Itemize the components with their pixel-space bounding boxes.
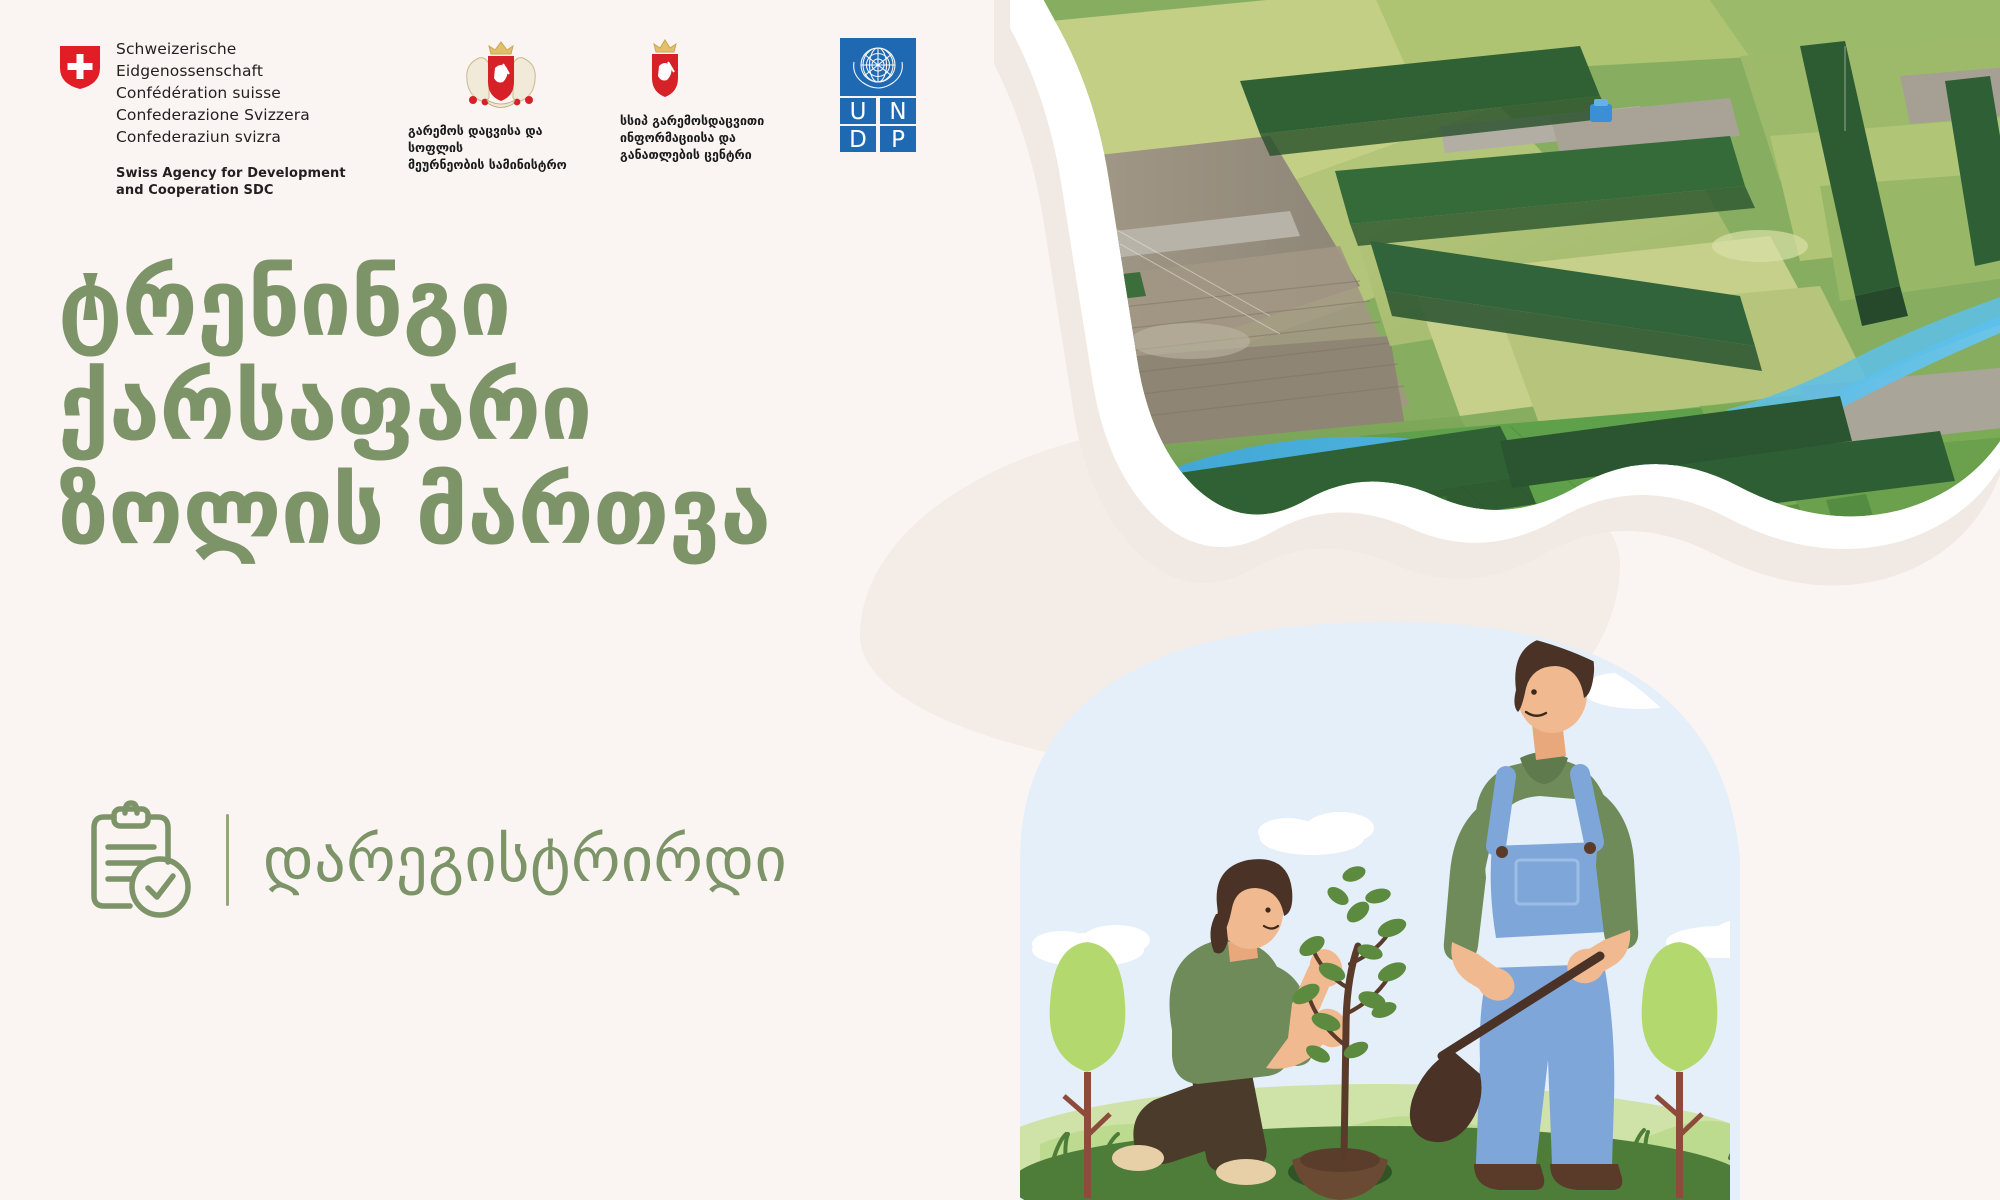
register-divider <box>226 814 229 906</box>
environmental-information-centre-label: სსიპ გარემოსდაცვითი ინფორმაციისა და განა… <box>620 112 764 163</box>
undp-letter-p: P <box>891 127 905 153</box>
ministry-of-environment-label: გარემოს დაცვისა და სოფლის მეურნეობის სამ… <box>408 122 594 173</box>
swiss-shield-icon <box>58 44 102 90</box>
clipboard-check-icon <box>70 800 200 920</box>
undp-logo-mark: U N D P <box>840 38 916 154</box>
environmental-information-centre-logo: სსიპ გარემოსდაცვითი ინფორმაციისა და განა… <box>620 38 800 163</box>
page-title: ტრენინგი ქარსაფარი ზოლის მართვა <box>58 252 771 564</box>
register-cta[interactable]: დარეგისტრირდი <box>70 800 787 920</box>
undp-letter-n: N <box>889 99 906 125</box>
aerial-farmland-photo <box>940 0 2000 626</box>
ministry-of-environment-logo: გარემოს დაცვისა და სოფლის მეურნეობის სამ… <box>408 38 594 173</box>
tree-planting-illustration <box>940 560 2000 1200</box>
swiss-confederation-names: Schweizerische Eidgenossenschaft Confédé… <box>116 38 378 148</box>
tree-planting-illustration-svg <box>940 560 2000 1200</box>
register-label[interactable]: დარეგისტრირდი <box>263 829 787 891</box>
undp-letter-u: U <box>850 99 867 125</box>
partner-logos-row: Schweizerische Eidgenossenschaft Confédé… <box>58 38 916 200</box>
training-announcement-banner: Schweizerische Eidgenossenschaft Confédé… <box>0 0 2000 1200</box>
swiss-confederation-logo: Schweizerische Eidgenossenschaft Confédé… <box>58 38 378 200</box>
aerial-photo-container <box>940 0 2000 626</box>
georgia-shield-icon <box>644 38 686 100</box>
undp-logo: U N D P <box>840 38 916 154</box>
undp-letter-d: D <box>849 127 867 153</box>
swiss-agency-label: Swiss Agency for Development and Coopera… <box>116 166 378 200</box>
georgia-coat-of-arms-icon <box>459 38 543 112</box>
